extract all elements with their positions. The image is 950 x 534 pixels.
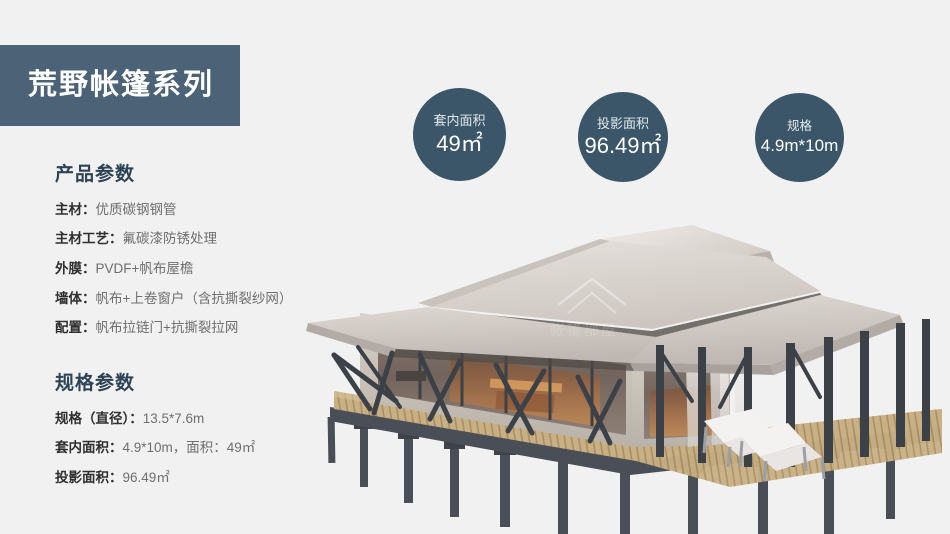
stat-circle-projected-area: 投影面积 96.49㎡ [578,92,668,182]
stat-value: 4.9m*10m [761,137,838,155]
stat-circle-dimensions: 规格 4.9m*10m [755,93,844,182]
stat-value: 49㎡ [436,132,482,155]
spec-label: 墙体： [55,291,96,306]
spec-label: 主材： [55,202,96,217]
watermark-text: 帐篷部屋 [550,321,618,339]
tent-render-image: 帐篷部屋 [300,195,950,534]
slide-canvas: 荒野帐篷系列 产品参数 主材：优质碳钢钢管 主材工艺：氟碳漆防锈处理 外膜：PV… [0,0,950,534]
stat-circle-interior-area: 套内面积 49㎡ [413,88,506,181]
spec-value: 4.9*10m，面积：49㎡ [123,440,256,455]
stat-label: 套内面积 [433,114,485,128]
spec-label: 规格（直径）： [55,411,143,426]
spec-value: 帆布拉链门+抗撕裂拉网 [96,320,239,335]
spec-label: 投影面积： [55,470,123,485]
spec-value: 帆布+上卷窗户（含抗撕裂纱网） [96,291,293,306]
page-title: 荒野帐篷系列 [28,71,214,100]
spec-label: 配置： [55,320,96,335]
spec-label: 外膜： [55,261,96,276]
product-section-heading: 产品参数 [55,165,345,186]
spec-value: PVDF+帆布屋檐 [96,261,194,276]
title-banner: 荒野帐篷系列 [0,45,240,126]
tent-render-svg: 帐篷部屋 [300,195,950,534]
spec-value: 96.49㎡ [123,470,170,485]
wall-vent [396,371,426,381]
spec-value: 氟碳漆防锈处理 [123,231,218,246]
stat-value: 96.49㎡ [584,134,661,157]
spec-value: 优质碳钢钢管 [96,202,177,217]
stat-label: 规格 [787,120,812,134]
spec-label: 主材工艺： [55,231,123,246]
spec-value: 13.5*7.6m [143,411,205,426]
stat-label: 投影面积 [597,117,649,131]
spec-label: 套内面积： [55,440,123,455]
